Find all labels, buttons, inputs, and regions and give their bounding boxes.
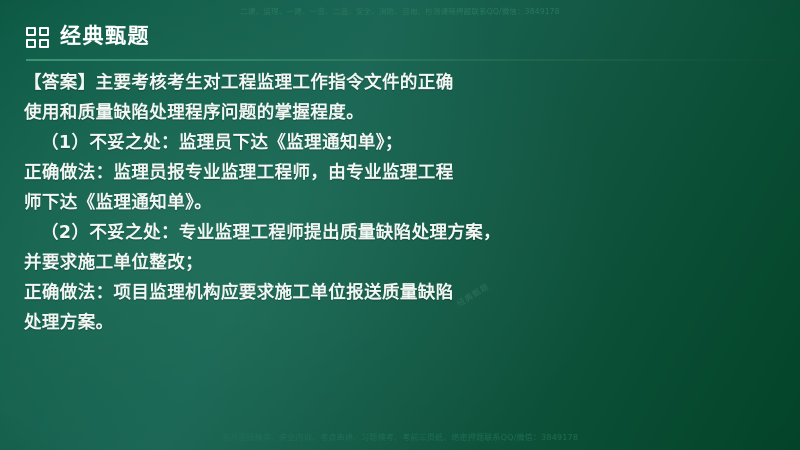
body-line: 师下达《监理通知单》。	[24, 188, 624, 218]
body-line: （2）不妥之处：专业监理工程师提出质量缺陷处理方案，	[24, 218, 624, 248]
slide-canvas: 二建、监理、一建、一造、二造、安全、消防、咨询、检测课程押题联系QQ/微信：38…	[0, 0, 800, 450]
body-line: 正确做法：项目监理机构应要求施工单位报送质量缺陷	[24, 278, 624, 308]
page-title: 经典甄题	[60, 26, 150, 47]
body-line: 使用和质量缺陷处理程序问题的掌握程度。	[24, 98, 624, 128]
body-line: 正确做法：监理员报专业监理工程师，由专业监理工程	[24, 158, 624, 188]
bottom-promo-banner: 名师面授精华、央企内训、考点串讲、习题模考、考前三页纸、绝密押题联系QQ/微信：…	[0, 434, 800, 442]
top-promo-text: 二建、监理、一建、一造、二造、安全、消防、咨询、检测课程押题联系QQ/微信：38…	[240, 8, 559, 16]
grid-cell-bottom-right	[39, 39, 49, 48]
grid-cell-top-right	[39, 27, 49, 36]
bottom-promo-text: 名师面授精华、央企内训、考点串讲、习题模考、考前三页纸、绝密押题联系QQ/微信：…	[222, 434, 578, 442]
body-line: （1）不妥之处：监理员下达《监理通知单》；	[24, 128, 624, 158]
answer-body: 【答案】主要考核考生对工程监理工作指令文件的正确 使用和质量缺陷处理程序问题的掌…	[24, 68, 624, 338]
top-promo-banner: 二建、监理、一建、一造、二造、安全、消防、咨询、检测课程押题联系QQ/微信：38…	[0, 0, 800, 24]
grid-four-squares-icon	[26, 27, 49, 47]
grid-cell-top-left	[26, 27, 36, 36]
slide-header: 经典甄题	[26, 26, 150, 47]
header-divider	[26, 59, 800, 61]
body-line: 【答案】主要考核考生对工程监理工作指令文件的正确	[24, 68, 624, 98]
body-line: 并要求施工单位整改；	[24, 248, 624, 278]
grid-cell-bottom-left	[26, 39, 36, 48]
body-line: 处理方案。	[24, 308, 624, 338]
